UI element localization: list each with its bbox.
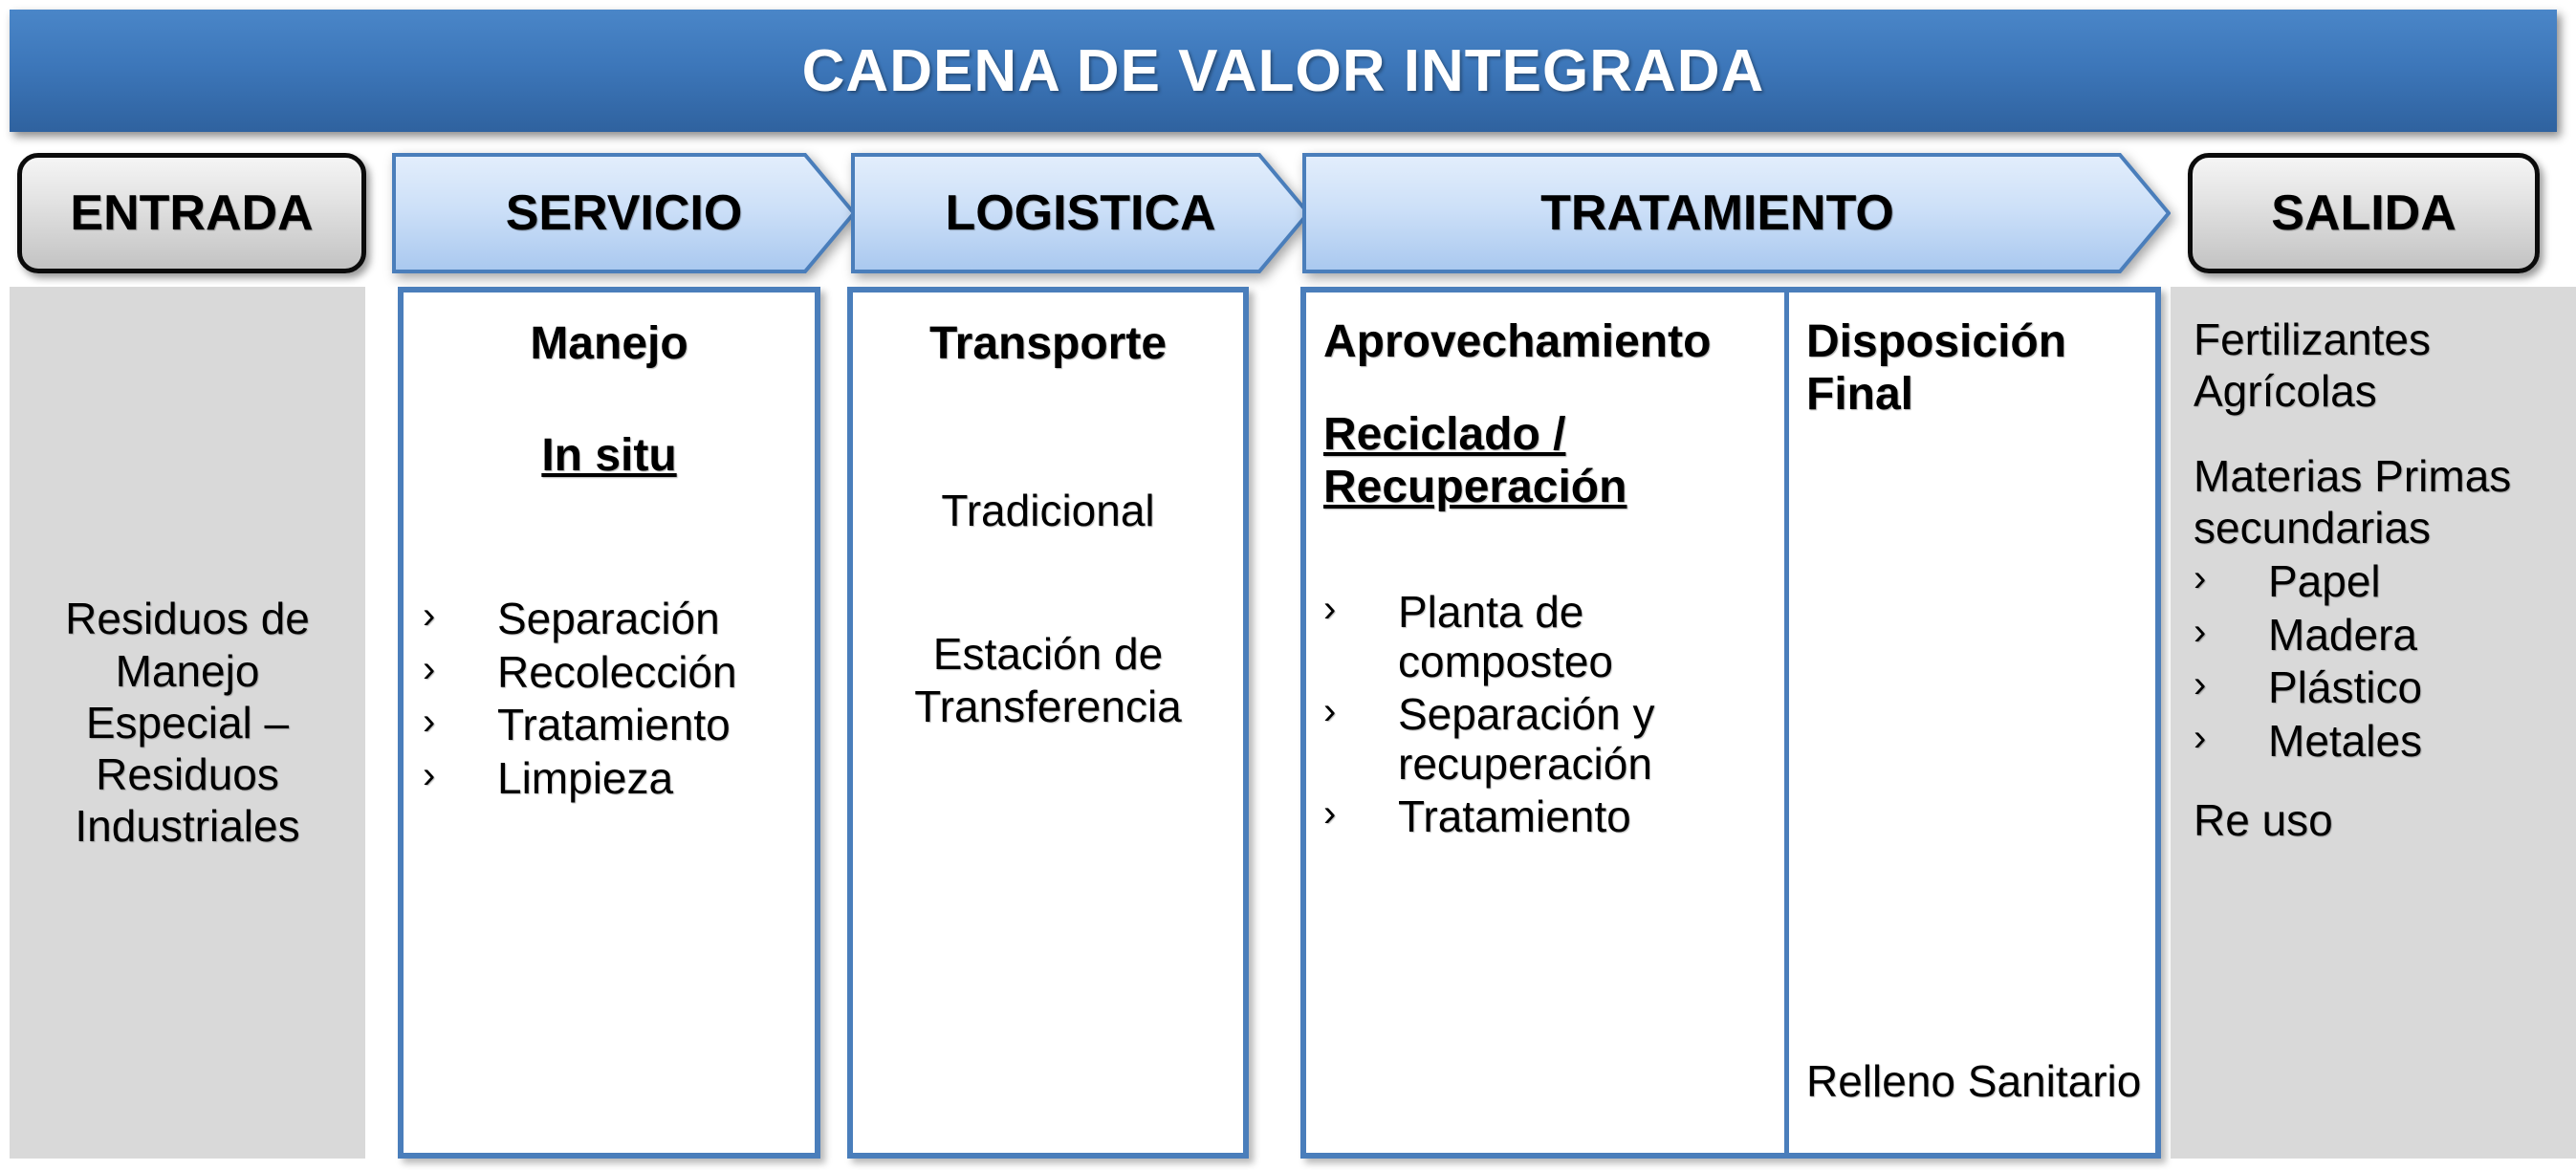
list-item: ›Plástico	[2194, 663, 2561, 713]
panel-tratamiento: Aprovechamiento Reciclado / Recuperación…	[1300, 287, 2161, 1159]
stage-header-servicio[interactable]: SERVICIO	[392, 153, 856, 273]
salida-list: ›Papel ›Madera ›Plástico ›Metales	[2194, 557, 2561, 766]
servicio-subtitle: In situ	[423, 429, 796, 482]
list-item: ›Separación	[423, 595, 796, 644]
bullet-chevron-icon: ›	[423, 648, 497, 691]
stage-header-salida-label: SALIDA	[2271, 184, 2456, 242]
list-item: ›Tratamiento	[423, 701, 796, 750]
stage-header-logistica-label: LOGISTICA	[945, 184, 1215, 242]
list-item: ›Madera	[2194, 611, 2561, 661]
bullet-chevron-icon: ›	[423, 701, 497, 744]
logistica-title: Transporte	[870, 317, 1226, 370]
bullet-chevron-icon: ›	[2194, 611, 2268, 654]
logistica-line-1: Tradicional	[870, 485, 1226, 536]
list-item-label: Metales	[2268, 717, 2561, 767]
bullet-chevron-icon: ›	[1323, 690, 1398, 733]
panel-entrada: Residuos de Manejo Especial – Residuos I…	[10, 287, 365, 1159]
aprovechamiento-list: ›Planta de composteo ›Separación y recup…	[1323, 588, 1769, 842]
disposicion-bottom-text: Relleno Sanitario	[1806, 1055, 2141, 1107]
list-item-label: Planta de composteo	[1398, 588, 1769, 686]
stage-header-tratamiento-label: TRATAMIENTO	[1540, 184, 1932, 242]
bullet-chevron-icon: ›	[423, 754, 497, 797]
disposicion-title: Disposición Final	[1806, 315, 2140, 421]
list-item-label: Papel	[2268, 557, 2561, 607]
list-item-label: Madera	[2268, 611, 2561, 661]
list-item: ›Papel	[2194, 557, 2561, 607]
bullet-chevron-icon: ›	[1323, 588, 1398, 631]
list-item-label: Separación	[497, 595, 796, 644]
list-item-label: Tratamiento	[1398, 792, 1769, 842]
title-banner: CADENA DE VALOR INTEGRADA	[10, 10, 2557, 132]
salida-line-2: Materias Primas secundarias	[2194, 450, 2561, 554]
list-item-label: Tratamiento	[497, 701, 796, 750]
bullet-chevron-icon: ›	[2194, 717, 2268, 760]
panel-salida: Fertilizantes Agrícolas Materias Primas …	[2171, 287, 2576, 1159]
list-item: ›Recolección	[423, 648, 796, 698]
entrada-body-text: Residuos de Manejo Especial – Residuos I…	[34, 593, 340, 852]
list-item-label: Plástico	[2268, 663, 2561, 713]
aprovechamiento-subtitle: Reciclado / Recuperación	[1323, 408, 1769, 513]
servicio-title: Manejo	[423, 317, 796, 370]
list-item: ›Limpieza	[423, 754, 796, 804]
bullet-chevron-icon: ›	[423, 595, 497, 638]
bullet-chevron-icon: ›	[2194, 663, 2268, 706]
stage-header-salida[interactable]: SALIDA	[2188, 153, 2540, 273]
list-item: ›Planta de composteo	[1323, 588, 1769, 686]
bullet-chevron-icon: ›	[1323, 792, 1398, 835]
panel-aprovechamiento: Aprovechamiento Reciclado / Recuperación…	[1306, 292, 1789, 1153]
list-item: ›Metales	[2194, 717, 2561, 767]
stage-header-entrada-label: ENTRADA	[70, 184, 313, 242]
stage-header-logistica[interactable]: LOGISTICA	[851, 153, 1310, 273]
stage-header-servicio-label: SERVICIO	[506, 184, 743, 242]
list-item-label: Recolección	[497, 648, 796, 698]
salida-line-3: Re uso	[2194, 794, 2561, 846]
list-item-label: Limpieza	[497, 754, 796, 804]
list-item: ›Separación y recuperación	[1323, 690, 1769, 789]
stage-header-entrada[interactable]: ENTRADA	[17, 153, 366, 273]
salida-line-1: Fertilizantes Agrícolas	[2194, 314, 2561, 418]
panel-servicio: Manejo In situ ›Separación ›Recolección …	[398, 287, 820, 1159]
servicio-list: ›Separación ›Recolección ›Tratamiento ›L…	[423, 595, 796, 803]
panel-logistica: Transporte Tradicional Estación de Trans…	[847, 287, 1249, 1159]
aprovechamiento-title: Aprovechamiento	[1323, 315, 1769, 368]
panel-disposicion-final: Disposición Final Relleno Sanitario	[1789, 292, 2155, 1153]
list-item: ›Tratamiento	[1323, 792, 1769, 842]
list-item-label: Separación y recuperación	[1398, 690, 1769, 789]
page-title: CADENA DE VALOR INTEGRADA	[802, 37, 1765, 105]
logistica-line-2: Estación de Transferencia	[870, 628, 1226, 732]
bullet-chevron-icon: ›	[2194, 557, 2268, 600]
stage-header-tratamiento[interactable]: TRATAMIENTO	[1302, 153, 2171, 273]
